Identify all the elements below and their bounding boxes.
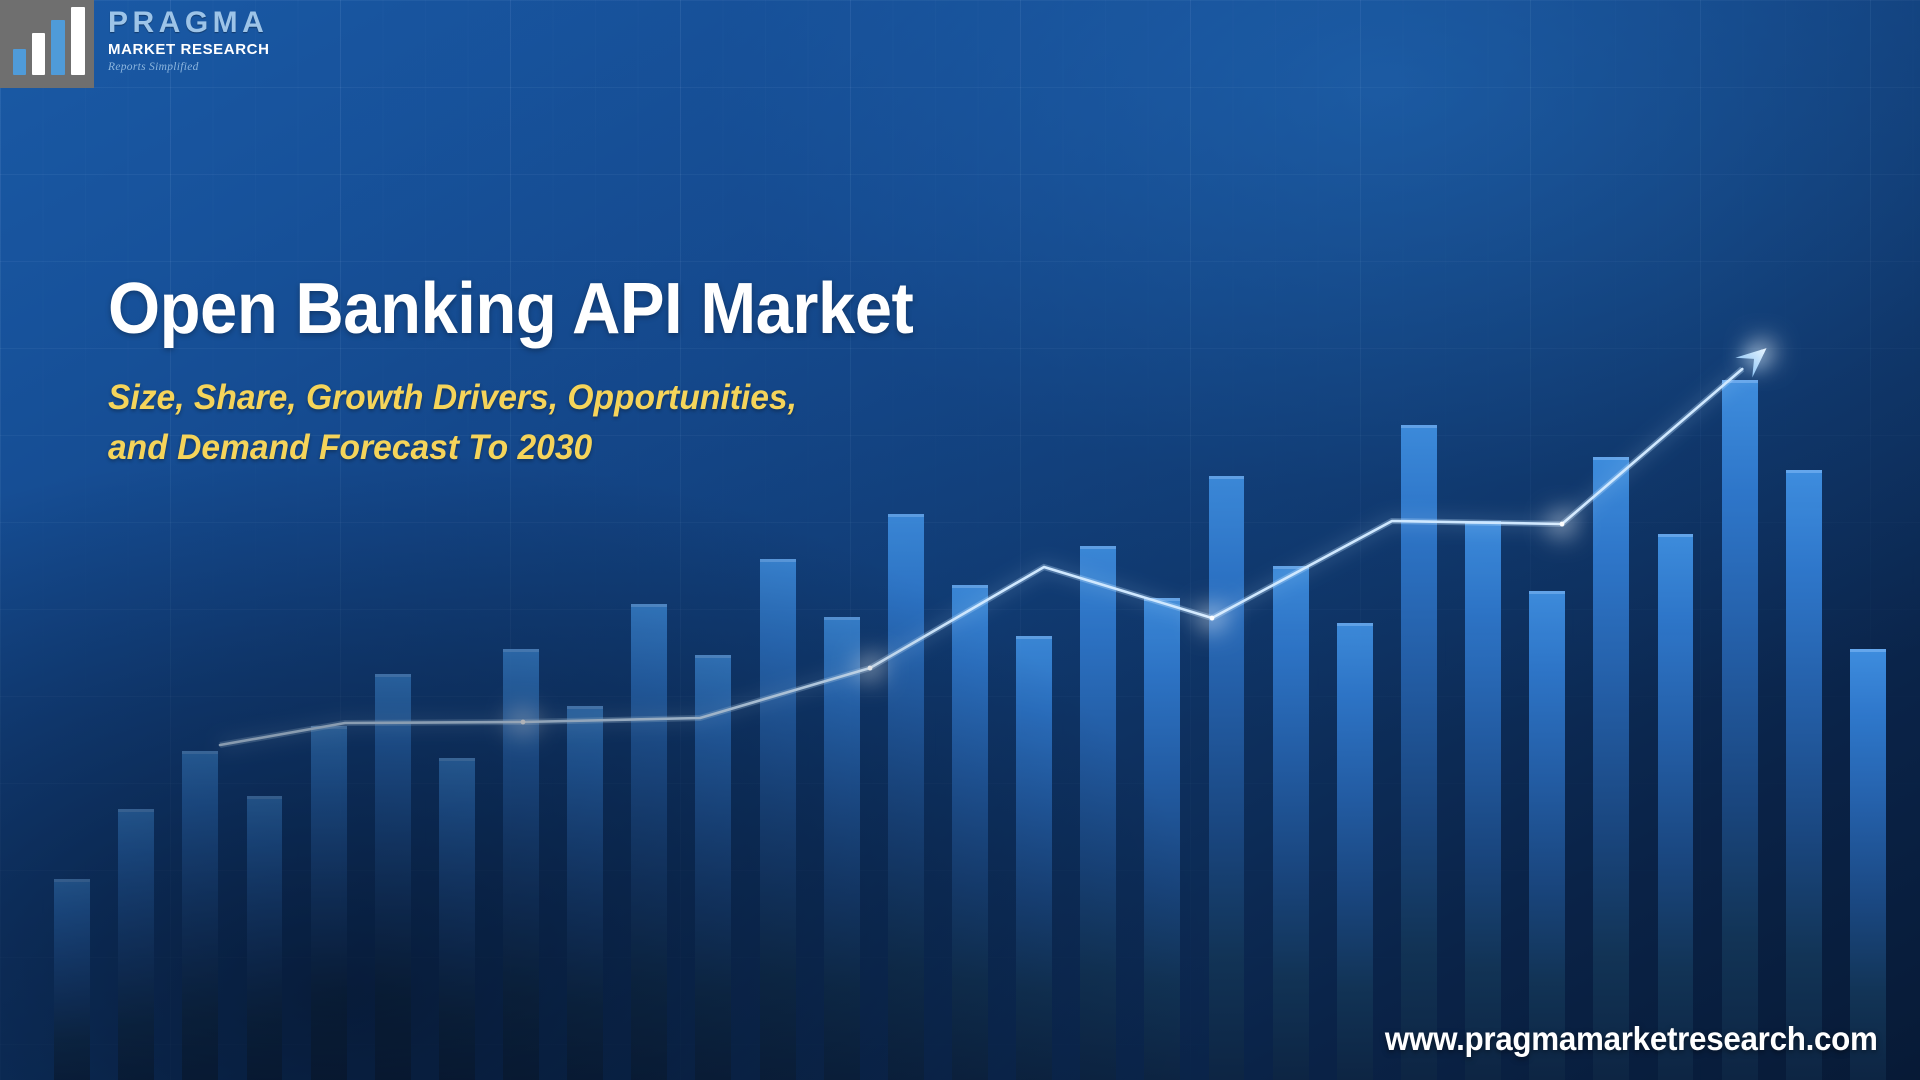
trend-line-node bbox=[521, 720, 526, 725]
trend-line-node bbox=[1210, 616, 1215, 621]
brand-logo[interactable]: PRAGMA MARKET RESEARCH Reports Simplifie… bbox=[0, 0, 270, 88]
headline-block: Open Banking API Market Size, Share, Gro… bbox=[108, 272, 1118, 474]
trend-line-node bbox=[1560, 522, 1565, 527]
page-title: Open Banking API Market bbox=[108, 272, 1047, 347]
trend-line-chart bbox=[0, 0, 1920, 1080]
logo-bar-4 bbox=[71, 7, 85, 75]
subtitle-line-2: and Demand Forecast To 2030 bbox=[108, 423, 1049, 473]
banner-canvas: PRAGMA MARKET RESEARCH Reports Simplifie… bbox=[0, 0, 1920, 1080]
logo-bar-2 bbox=[32, 33, 45, 75]
page-subtitle: Size, Share, Growth Drivers, Opportuniti… bbox=[108, 373, 1049, 474]
subtitle-line-1: Size, Share, Growth Drivers, Opportuniti… bbox=[108, 378, 797, 417]
brand-name: PRAGMA bbox=[108, 8, 270, 38]
bar-chart-icon bbox=[0, 0, 94, 88]
trend-line-node bbox=[868, 666, 873, 671]
brand-wordmark: PRAGMA MARKET RESEARCH Reports Simplifie… bbox=[94, 0, 270, 74]
logo-bar-3 bbox=[51, 20, 65, 75]
brand-subname: MARKET RESEARCH bbox=[108, 42, 270, 57]
brand-tagline: Reports Simplified bbox=[108, 62, 270, 74]
logo-bar-1 bbox=[13, 49, 26, 75]
website-url[interactable]: www.pragmamarketresearch.com bbox=[1385, 1020, 1878, 1058]
